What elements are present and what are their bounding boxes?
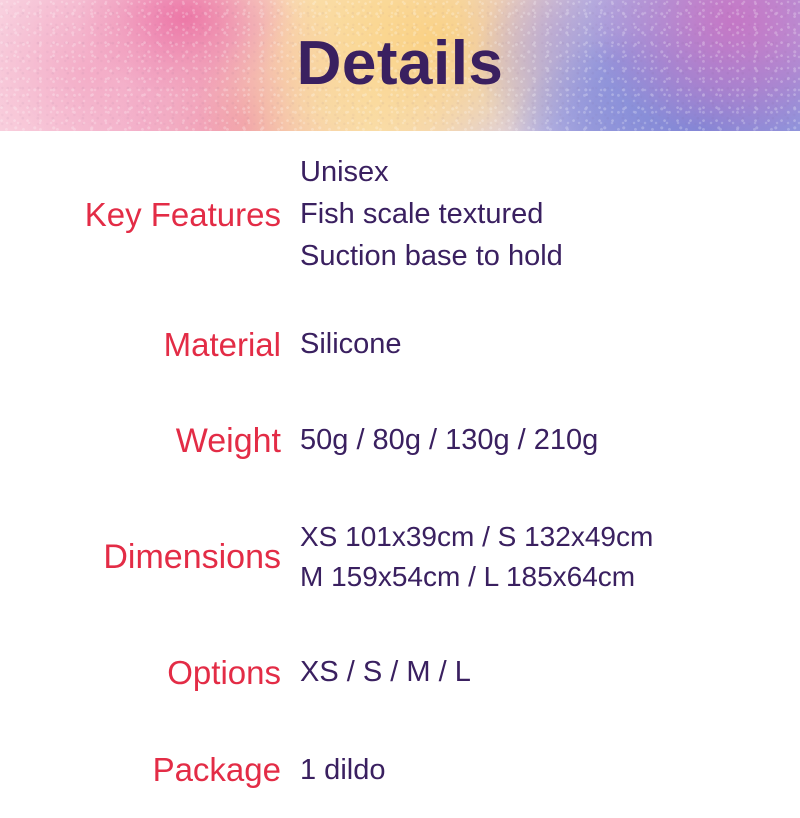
product-details-page: Details Key Features Unisex Fish scale t… xyxy=(0,0,800,800)
spec-label-package: Package xyxy=(0,751,281,790)
spec-label-weight: Weight xyxy=(0,421,281,461)
spec-label-key-features: Key Features xyxy=(0,196,281,235)
spec-label-material: Material xyxy=(0,326,281,365)
page-title: Details xyxy=(0,0,800,131)
table-row-options: Options XS / S / M / L xyxy=(0,623,800,723)
spec-value-key-features: Unisex Fish scale textured Suction base … xyxy=(281,152,800,277)
spec-value-material: Silicone xyxy=(281,324,800,366)
header-banner: Details xyxy=(0,0,800,131)
spec-value-dimensions: XS 101x39cm / S 132x49cm M 159x54cm / L … xyxy=(281,517,800,598)
table-row-weight: Weight 50g / 80g / 130g / 210g xyxy=(0,391,800,491)
spec-value-weight: 50g / 80g / 130g / 210g xyxy=(281,420,800,462)
table-row-material: Material Silicone xyxy=(0,299,800,391)
spec-label-options: Options xyxy=(0,654,281,693)
table-row-key-features: Key Features Unisex Fish scale textured … xyxy=(0,131,800,299)
specification-table: Key Features Unisex Fish scale textured … xyxy=(0,131,800,800)
spec-label-dimensions: Dimensions xyxy=(0,537,281,577)
spec-value-package: 1 dildo xyxy=(281,750,800,792)
table-row-dimensions: Dimensions XS 101x39cm / S 132x49cm M 15… xyxy=(0,491,800,623)
table-row-package: Package 1 dildo xyxy=(0,723,800,818)
spec-value-options: XS / S / M / L xyxy=(281,652,800,694)
